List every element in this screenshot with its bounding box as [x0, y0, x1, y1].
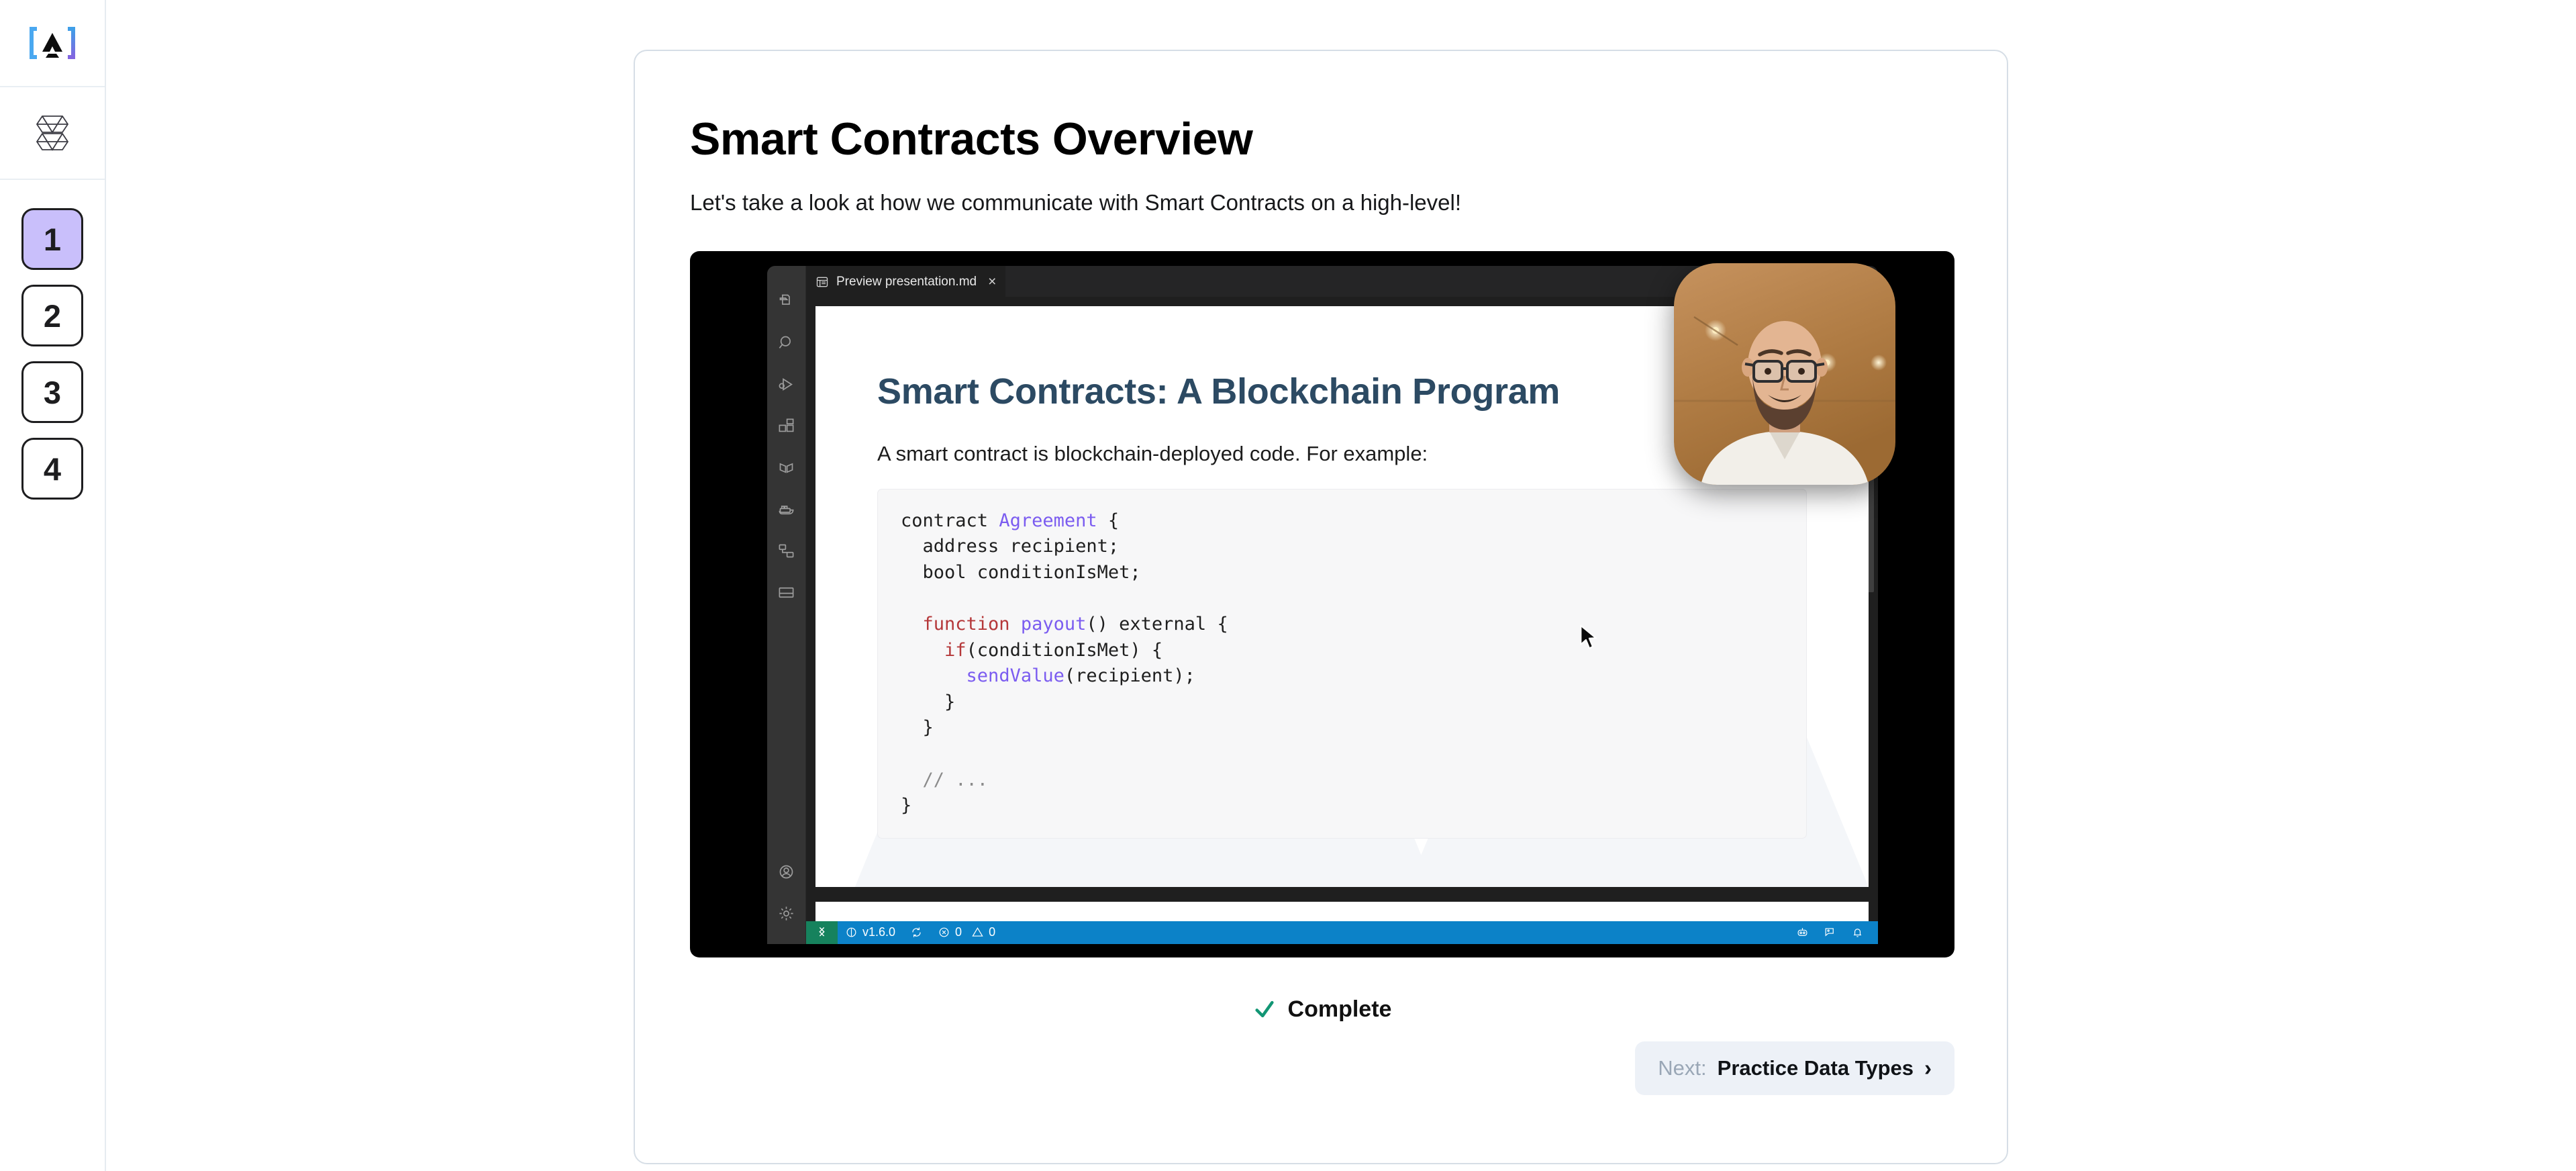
lesson-card: Smart Contracts Overview Let's take a lo… [634, 50, 2008, 1164]
error-count: 0 [955, 925, 962, 939]
chevron-right-icon: › [1924, 1057, 1932, 1079]
presenter-webcam [1674, 263, 1895, 485]
warning-triangle-icon [971, 926, 984, 939]
lesson-video-player[interactable]: Preview presentation.md × [690, 251, 1954, 957]
sidebar-step-4[interactable]: 4 [21, 438, 83, 500]
search-icon[interactable] [769, 322, 804, 364]
complete-status: Complete [1253, 996, 1392, 1023]
vscode-activity-bar [767, 266, 806, 944]
sidebar-step-1[interactable]: 1 [21, 208, 83, 270]
run-and-debug-icon[interactable] [769, 364, 804, 406]
docker-icon[interactable] [769, 489, 804, 530]
hexagon-triangles-logo-icon [33, 112, 72, 154]
status-version-label: v1.6.0 [862, 925, 895, 939]
status-version[interactable]: v1.6.0 [838, 925, 903, 939]
next-slide-preview [815, 902, 1869, 921]
next-prefix-label: Next: [1658, 1056, 1706, 1080]
solidity-code: contract Agreement { address recipient; … [901, 510, 1228, 816]
feedback-icon[interactable] [1816, 926, 1844, 939]
left-sidebar: 1 2 3 4 [0, 0, 106, 1171]
settings-gear-icon[interactable] [769, 893, 804, 935]
editor-tab[interactable]: Preview presentation.md × [806, 266, 1005, 297]
explorer-icon[interactable] [769, 281, 804, 322]
copilot-icon[interactable] [1789, 926, 1816, 939]
remote-explorer-icon[interactable] [769, 530, 804, 572]
next-lesson-button[interactable]: Next: Practice Data Types › [1635, 1041, 1954, 1095]
terraform-icon[interactable] [769, 447, 804, 489]
sidebar-step-2[interactable]: 2 [21, 285, 83, 346]
step-list: 1 2 3 4 [21, 180, 83, 500]
preview-markdown-icon [815, 275, 829, 289]
warning-count: 0 [989, 925, 995, 939]
source-control-icon [845, 926, 858, 939]
slide-heading: Smart Contracts: A Blockchain Program [877, 371, 1807, 412]
status-problems[interactable]: 0 0 [930, 925, 1003, 939]
editor-tab-label: Preview presentation.md [836, 275, 977, 289]
lesson-subtitle: Let's take a look at how we communicate … [690, 187, 1952, 218]
presenter-webcam-image [1674, 263, 1895, 485]
sidebar-step-3[interactable]: 3 [21, 361, 83, 423]
algorithm-bracket-logo-icon [30, 26, 75, 60]
sync-icon[interactable] [903, 926, 930, 939]
extensions-icon[interactable] [769, 406, 804, 447]
error-circle-icon [938, 926, 950, 939]
course-brand-logo[interactable] [0, 87, 105, 180]
main-content: Smart Contracts Overview Let's take a lo… [106, 0, 2576, 1171]
bell-notification-icon[interactable] [1844, 926, 1871, 939]
lesson-page: 1 2 3 4 Smart Contracts Overview Let's t… [0, 0, 2576, 1171]
lesson-footer: Complete Next: Practice Data Types › [690, 996, 1954, 1095]
app-logo[interactable] [0, 0, 105, 87]
account-icon[interactable] [769, 851, 804, 893]
mouse-pointer-icon [1578, 624, 1601, 655]
close-icon[interactable]: × [988, 275, 996, 289]
panel-layout-icon[interactable] [769, 572, 804, 614]
next-lesson-title: Practice Data Types [1718, 1056, 1914, 1080]
page-title: Smart Contracts Overview [690, 115, 1952, 163]
vscode-status-bar: v1.6.0 0 0 [806, 921, 1878, 944]
slide-paragraph: A smart contract is blockchain-deployed … [877, 442, 1807, 466]
check-icon [1253, 998, 1276, 1021]
slide-code-block: contract Agreement { address recipient; … [877, 489, 1807, 839]
remote-window-icon[interactable] [806, 921, 838, 944]
complete-label: Complete [1288, 996, 1392, 1023]
